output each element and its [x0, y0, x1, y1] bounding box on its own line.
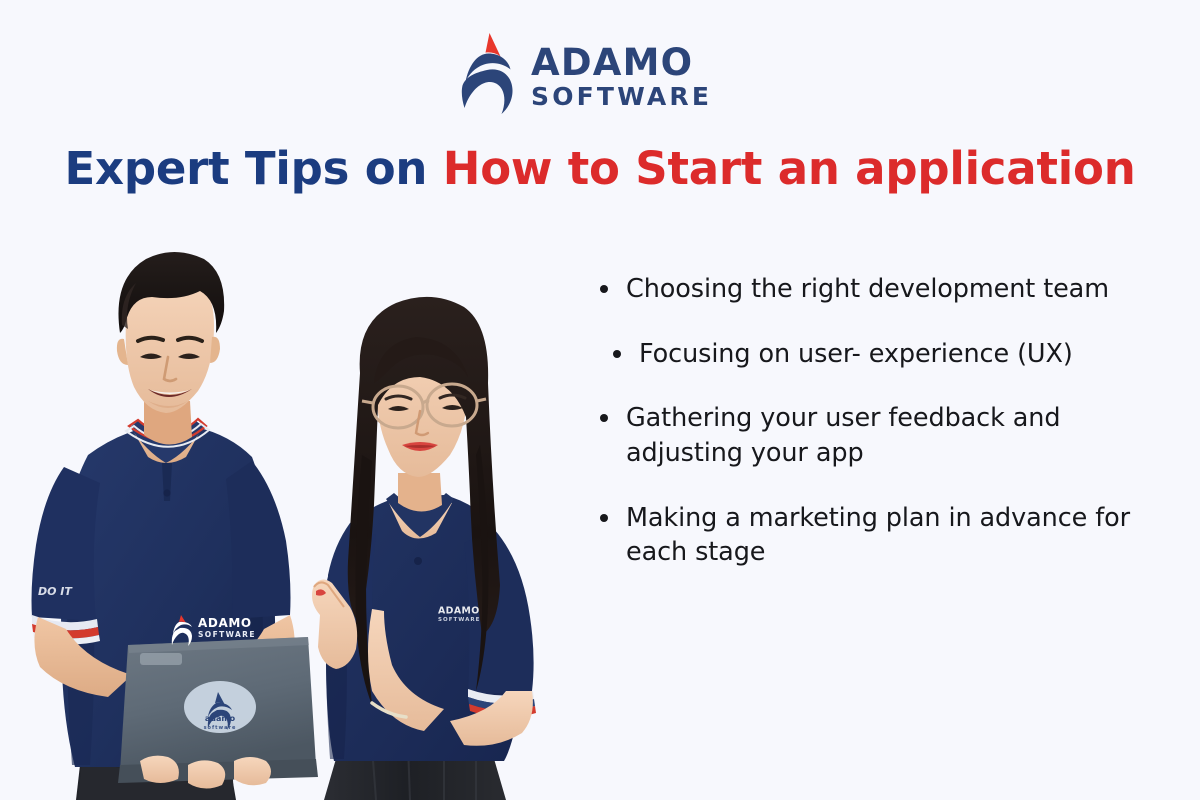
list-item: Gathering your user feedback and adjusti… — [600, 401, 1175, 470]
brand-name-secondary: SOFTWARE — [531, 84, 712, 109]
page-title-red-part: How to Start an application — [443, 142, 1136, 195]
brand-wordmark: ADAMO SOFTWARE — [531, 40, 712, 109]
svg-text:SOFTWARE: SOFTWARE — [198, 630, 256, 639]
svg-text:SOFTWARE: SOFTWARE — [438, 617, 480, 623]
brand-name-primary: ADAMO — [531, 44, 712, 81]
list-item-label: Choosing the right development team — [626, 272, 1109, 307]
page-title-navy-part: Expert Tips on — [64, 142, 442, 195]
svg-text:software: software — [204, 725, 237, 731]
list-item: Choosing the right development team — [600, 272, 1175, 307]
list-item-label: Gathering your user feedback and adjusti… — [626, 401, 1175, 470]
shirt-chest-logo-female: ADAMO SOFTWARE — [438, 606, 480, 624]
bullet-marker-icon — [600, 514, 608, 522]
team-photo: DO IT — [20, 205, 590, 800]
bullet-marker-icon — [600, 414, 608, 422]
list-item: Focusing on user- experience (UX) — [600, 337, 1175, 372]
bullet-marker-icon — [600, 285, 608, 293]
svg-text:ADAMO: ADAMO — [198, 616, 252, 630]
list-item-label: Making a marketing plan in advance for e… — [626, 501, 1175, 570]
bullet-marker-icon — [613, 350, 621, 358]
list-item: Making a marketing plan in advance for e… — [600, 501, 1175, 570]
list-item-label: Focusing on user- experience (UX) — [639, 337, 1073, 372]
svg-text:DO IT: DO IT — [38, 585, 73, 598]
brand-logo: ADAMO SOFTWARE — [455, 28, 755, 120]
svg-text:adamo: adamo — [205, 714, 236, 723]
tips-list: Choosing the right development team Focu… — [600, 272, 1175, 600]
slide-canvas: ADAMO SOFTWARE Expert Tips on How to Sta… — [0, 0, 1200, 800]
svg-text:ADAMO: ADAMO — [438, 606, 480, 617]
adamo-logo-mark-icon — [455, 30, 517, 118]
page-title: Expert Tips on How to Start an applicati… — [0, 142, 1200, 195]
